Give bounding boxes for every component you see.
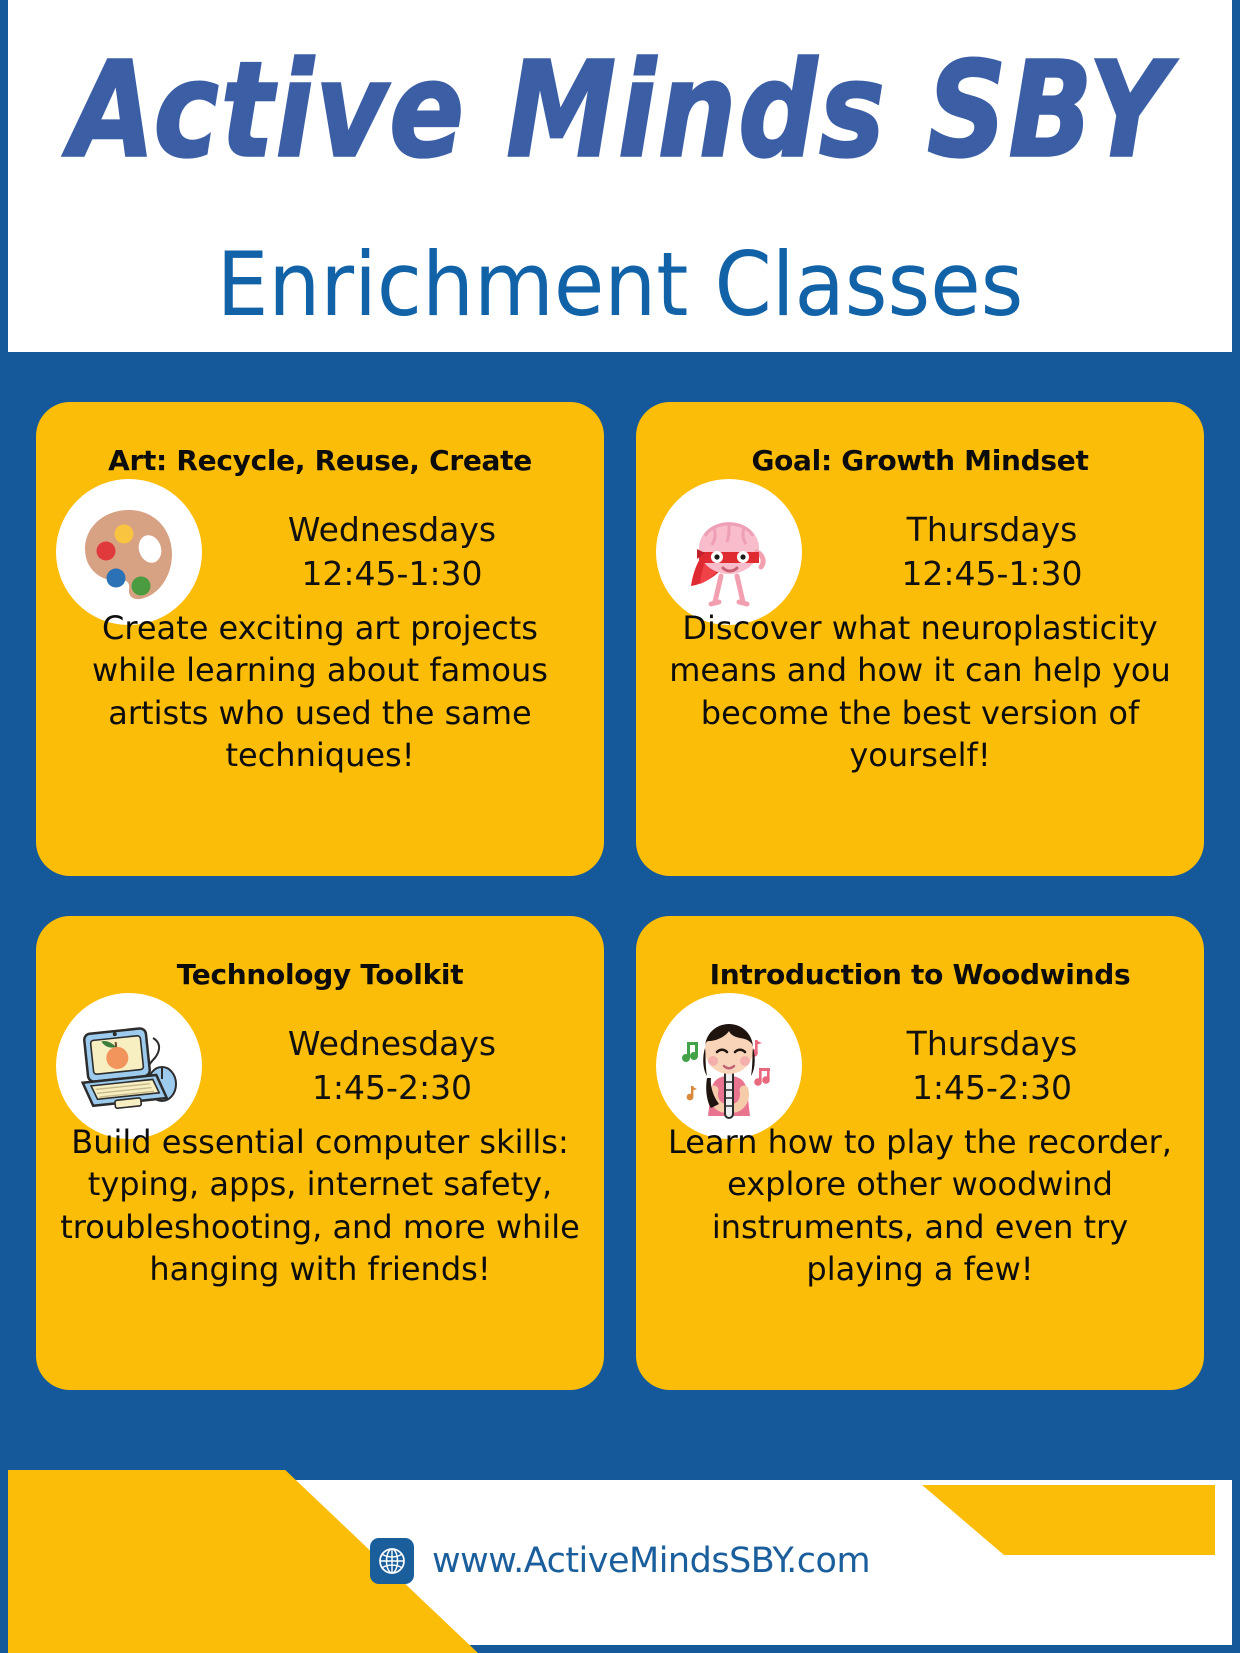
laptop-computer-icon [56, 993, 202, 1139]
paint-palette-icon [56, 479, 202, 625]
class-card-time: 1:45-2:30 [804, 1066, 1180, 1110]
class-card-meta: Wednesdays 1:45-2:30 [50, 993, 590, 1139]
class-cards-grid: Art: Recycle, Reuse, Create Wednesdays 1… [8, 352, 1232, 1390]
class-card-title: Introduction to Woodwinds [650, 960, 1190, 991]
class-card-day: Wednesdays [204, 1022, 580, 1066]
class-card-schedule: Wednesdays 12:45-1:30 [204, 508, 590, 595]
class-card-woodwinds[interactable]: Introduction to Woodwinds [636, 916, 1204, 1390]
footer-website-row[interactable]: www.ActiveMindsSBY.com [0, 1538, 1240, 1584]
header-right-edge [1232, 0, 1240, 352]
poster: Active Minds SBY Enrichment Classes Art:… [0, 0, 1240, 1653]
class-card-description: Build essential computer skills: typing,… [50, 1121, 590, 1291]
class-card-meta: Wednesdays 12:45-1:30 [50, 479, 590, 625]
header-left-edge [0, 0, 8, 352]
poster-header: Active Minds SBY Enrichment Classes [8, 0, 1232, 352]
class-card-description: Create exciting art projects while learn… [50, 607, 590, 777]
brand-title: Active Minds SBY [8, 36, 1232, 188]
class-card-day: Thursdays [804, 1022, 1180, 1066]
class-card-growth-mindset[interactable]: Goal: Growth Mindset [636, 402, 1204, 876]
website-url[interactable]: www.ActiveMindsSBY.com [432, 1541, 870, 1581]
superhero-brain-icon [656, 479, 802, 625]
class-card-description: Discover what neuroplasticity means and … [650, 607, 1190, 777]
class-card-meta: Thursdays 12:45-1:30 [650, 479, 1190, 625]
class-card-day: Thursdays [804, 508, 1180, 552]
class-card-schedule: Wednesdays 1:45-2:30 [204, 1022, 590, 1109]
class-card-title: Technology Toolkit [50, 960, 590, 991]
class-card-time: 1:45-2:30 [204, 1066, 580, 1110]
girl-playing-recorder-icon [656, 993, 802, 1139]
page-subtitle: Enrichment Classes [8, 234, 1232, 337]
class-card-schedule: Thursdays 12:45-1:30 [804, 508, 1190, 595]
class-card-meta: Thursdays 1:45-2:30 [650, 993, 1190, 1139]
class-card-art[interactable]: Art: Recycle, Reuse, Create Wednesdays 1… [36, 402, 604, 876]
class-card-schedule: Thursdays 1:45-2:30 [804, 1022, 1190, 1109]
class-card-description: Learn how to play the recorder, explore … [650, 1121, 1190, 1291]
class-card-title: Art: Recycle, Reuse, Create [50, 446, 590, 477]
class-card-technology-toolkit[interactable]: Technology Toolkit [36, 916, 604, 1390]
globe-icon [370, 1538, 414, 1584]
class-card-time: 12:45-1:30 [804, 552, 1180, 596]
class-card-day: Wednesdays [204, 508, 580, 552]
class-card-time: 12:45-1:30 [204, 552, 580, 596]
class-card-title: Goal: Growth Mindset [650, 446, 1190, 477]
